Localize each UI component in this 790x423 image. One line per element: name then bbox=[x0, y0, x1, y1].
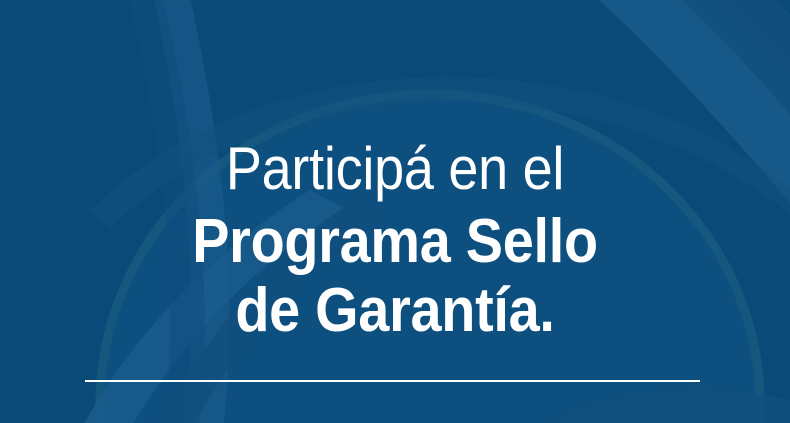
page-title: Participá en el Programa Sello de Garant… bbox=[0, 0, 790, 341]
headline-line-3: de Garantía. bbox=[40, 281, 751, 341]
headline-line-2: Programa Sello bbox=[40, 212, 751, 272]
promotional-banner: Participá en el Programa Sello de Garant… bbox=[0, 0, 790, 423]
headline-divider bbox=[85, 380, 700, 382]
headline-block: Participá en el Programa Sello de Garant… bbox=[0, 0, 790, 423]
headline-line-1: Participá en el bbox=[40, 140, 751, 198]
